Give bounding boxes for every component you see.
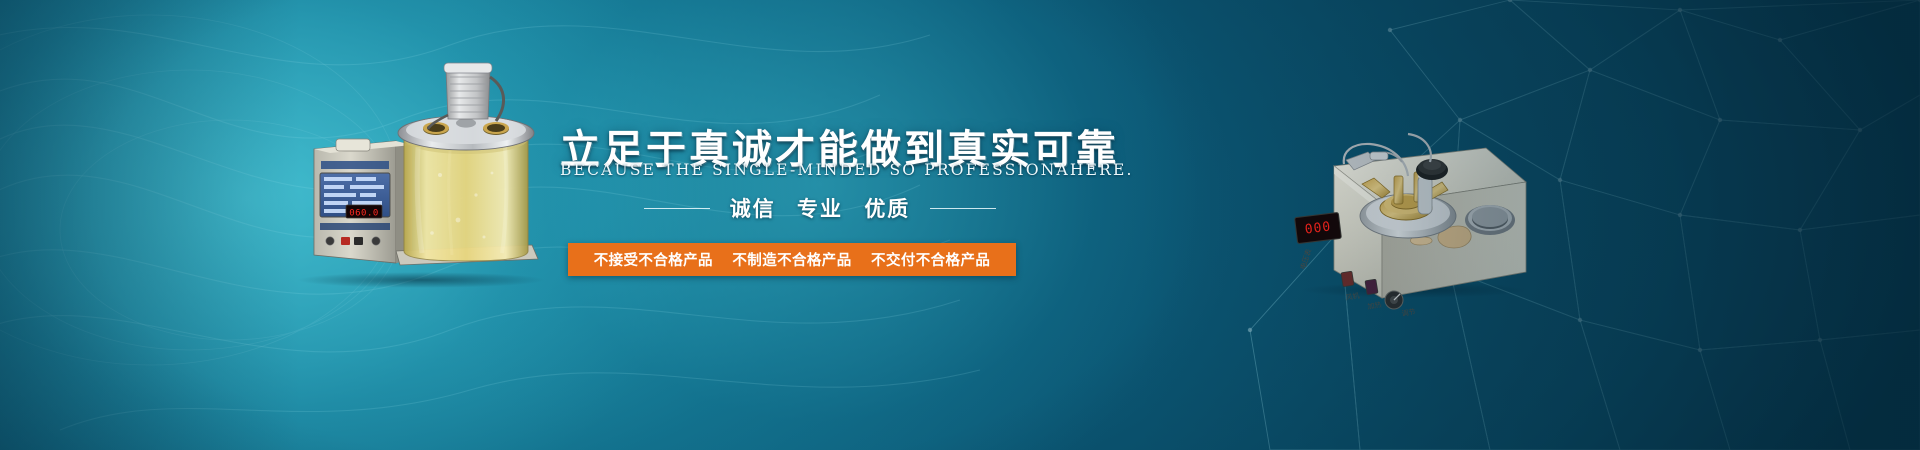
promo-banner: 060.0	[0, 0, 1920, 450]
background-vignette	[0, 0, 1920, 450]
